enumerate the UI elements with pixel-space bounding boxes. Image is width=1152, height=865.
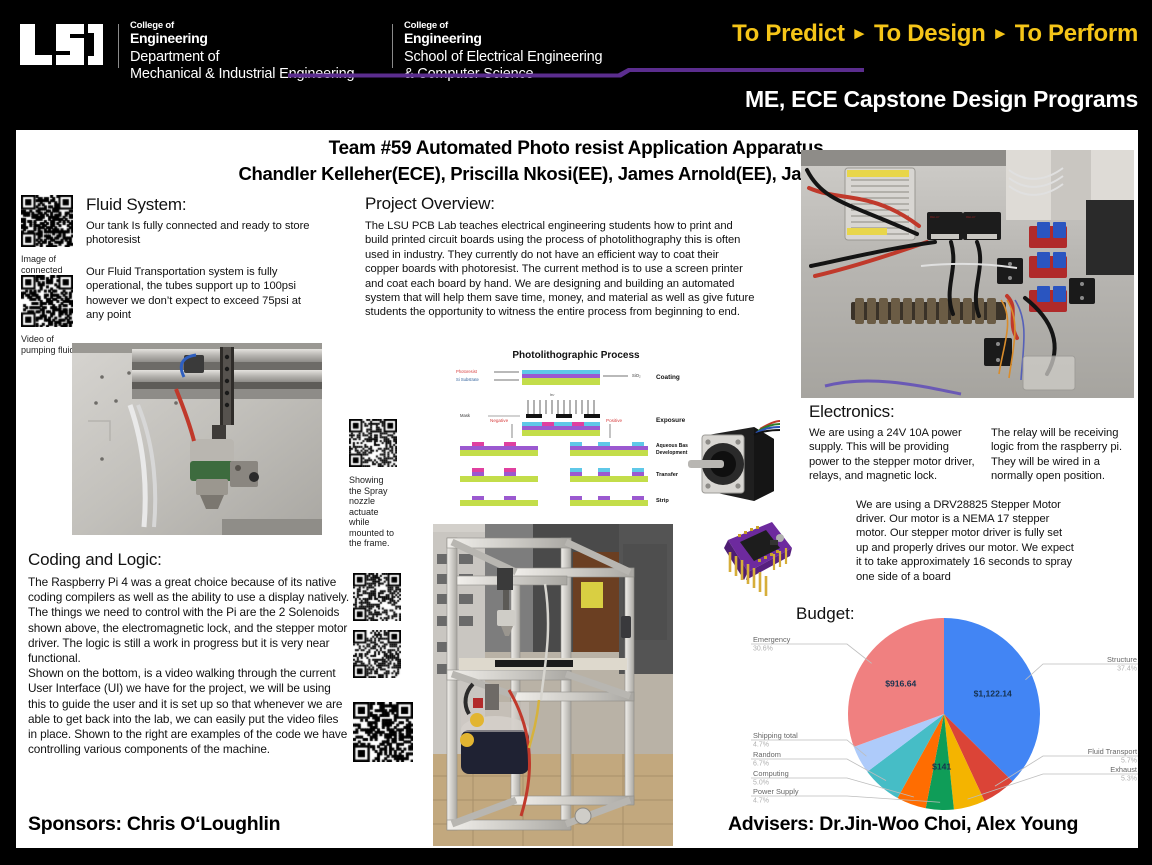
pie-label-power-supply: Power Supply	[753, 787, 799, 796]
sponsors-text: Sponsors: Chris O‘Loughlin	[28, 813, 280, 836]
project-overview-body: The LSU PCB Lab teaches electrical engin…	[365, 219, 755, 320]
coding-logic-section: Coding and Logic: The Raspberry Pi 4 was…	[28, 550, 350, 757]
qr-code-sample-1-block[interactable]	[353, 573, 401, 626]
project-overview-heading: Project Overview:	[365, 194, 755, 214]
qr-connected-tank-block[interactable]: Image of connected tank	[21, 195, 79, 286]
pie-percent-power-supply: 4.7%	[753, 797, 769, 804]
qr-code-spray-nozzle[interactable]	[349, 419, 397, 467]
unit1-line1: Department of	[130, 49, 354, 66]
pie-label-exhaust: Exhaust	[1110, 765, 1137, 774]
svg-text:Exposure: Exposure	[656, 417, 686, 424]
qr-pumping-fluid-block[interactable]: Video of pumping fluid	[21, 275, 79, 355]
poster-body: Team #59 Automated Photo resist Applicat…	[16, 130, 1138, 848]
triangle-right-icon: ►	[851, 24, 868, 43]
budget-heading: Budget:	[796, 604, 855, 624]
photo-spray-nozzle-assembly	[72, 343, 322, 535]
budget-chart: Budget: $1,122.14$141$916.64Structure37.…	[751, 604, 1138, 812]
photo-electronics-panel: RELAYRELAY	[801, 150, 1134, 398]
pie-percent-structure: 37.4%	[1117, 665, 1137, 672]
photo-nema17-stepper-motor	[688, 417, 780, 507]
electronics-para-3: We are using a DRV28825 Stepper Motor dr…	[856, 498, 1076, 584]
svg-text:hv: hv	[550, 392, 555, 397]
svg-text:Strip: Strip	[656, 498, 669, 504]
triangle-right-icon-2: ►	[992, 24, 1009, 43]
logo-divider-2	[392, 24, 393, 68]
svg-text:Aqueous Base: Aqueous Base	[656, 443, 691, 449]
electronics-col-1: We are using a 24V 10A power supply. Thi…	[809, 426, 981, 484]
unit1-engineering: Engineering	[130, 31, 354, 46]
project-overview-section: Project Overview: The LSU PCB Lab teache…	[365, 194, 755, 320]
fluid-system-para-2: Our Fluid Transportation system is fully…	[86, 265, 321, 323]
logo-divider-1	[118, 24, 119, 68]
svg-text:Positive: Positive	[606, 418, 623, 423]
budget-pie-svg: $1,122.14$141$916.64Structure37.4%Fluid …	[751, 604, 1138, 812]
electronics-col-2: The relay will be receiving logic from t…	[991, 426, 1133, 484]
pie-value-emergency: $916.64	[885, 679, 916, 689]
purple-accent-band	[0, 68, 1152, 78]
tagline-perform: To Perform	[1015, 20, 1138, 47]
svg-text:Development: Development	[656, 450, 688, 456]
pie-percent-random: 6.7%	[753, 760, 769, 767]
photolithographic-process-diagram: Photolithographic Process Photoresist Si…	[446, 350, 706, 525]
pie-label-shipping-total: Shipping total	[753, 731, 798, 740]
unit2-engineering: Engineering	[404, 31, 602, 46]
qr-caption-pumping-fluid: Video of pumping fluid	[21, 334, 79, 355]
pie-percent-computing: 5.0%	[753, 779, 769, 786]
tagline-predict: To Predict	[732, 20, 845, 47]
svg-text:Negative: Negative	[490, 418, 509, 423]
qr-code-sample-3-block[interactable]	[353, 702, 413, 767]
advisers-text: Advisers: Dr.Jin-Woo Choi, Alex Young	[728, 813, 1078, 836]
svg-text:Transfer: Transfer	[656, 472, 679, 478]
electronics-section: Electronics: We are using a 24V 10A powe…	[809, 402, 1138, 584]
fluid-system-para-1: Our tank Is fully connected and ready to…	[86, 219, 321, 248]
tagline: To Predict ► To Design ► To Perform	[732, 20, 1138, 48]
lsu-logo	[18, 22, 106, 66]
pie-label-random: Random	[753, 750, 781, 759]
svg-text:RELAY: RELAY	[966, 215, 976, 219]
qr-code-sample-2[interactable]	[353, 630, 401, 678]
svg-text:Photoresist: Photoresist	[456, 369, 478, 374]
pie-label-structure: Structure	[1107, 655, 1137, 664]
svg-text:Si Substrate: Si Substrate	[456, 377, 479, 382]
pie-label-emergency: Emergency	[753, 635, 791, 644]
pie-value-power-supply: $141	[932, 762, 951, 772]
diagram-title: Photolithographic Process	[446, 350, 706, 361]
electronics-heading: Electronics:	[809, 402, 1138, 422]
pie-percent-exhaust: 5.3%	[1121, 775, 1137, 782]
svg-text:RELAY: RELAY	[930, 215, 940, 219]
photo-machine-frame	[433, 524, 673, 846]
coding-para-3: Shown on the bottom, is a video walking …	[28, 666, 350, 757]
qr-caption-spray-nozzle: Showing the Spray nozzle actuate while m…	[349, 475, 397, 549]
programs-title: ME, ECE Capstone Design Programs	[745, 86, 1138, 113]
qr-code-pumping-fluid[interactable]	[21, 275, 73, 327]
unit2-line1: School of Electrical Engineering	[404, 49, 602, 66]
svg-text:SiO₂: SiO₂	[632, 373, 641, 378]
poster-root: College of Engineering Department of Mec…	[0, 0, 1152, 865]
coding-logic-heading: Coding and Logic:	[28, 550, 350, 570]
photo-drv8825-driver-board	[710, 514, 803, 602]
svg-text:Mask: Mask	[460, 413, 471, 418]
qr-code-connected-tank[interactable]	[21, 195, 73, 247]
coding-para-1: The Raspberry Pi 4 was a great choice be…	[28, 575, 350, 605]
poster-header: College of Engineering Department of Mec…	[0, 0, 1152, 130]
pie-label-fluid-transport: Fluid Transport	[1088, 747, 1137, 756]
tagline-design: To Design	[874, 20, 986, 47]
qr-code-sample-1[interactable]	[353, 573, 401, 621]
pie-percent-fluid-transport: 5.7%	[1121, 757, 1137, 764]
qr-code-sample-2-block[interactable]	[353, 630, 401, 683]
coding-para-2: The things we need to control with the P…	[28, 605, 350, 666]
pie-value-structure: $1,122.14	[974, 689, 1012, 699]
pie-label-computing: Computing	[753, 769, 789, 778]
qr-code-sample-3[interactable]	[353, 702, 413, 762]
fluid-system-heading: Fluid System:	[86, 195, 321, 215]
fluid-system-section: Fluid System: Our tank Is fully connecte…	[86, 195, 321, 322]
pie-percent-emergency: 30.6%	[753, 645, 773, 652]
qr-spray-nozzle-block[interactable]: Showing the Spray nozzle actuate while m…	[349, 419, 401, 549]
pie-percent-shipping-total: 4.7%	[753, 741, 769, 748]
svg-text:Coating: Coating	[656, 374, 680, 381]
